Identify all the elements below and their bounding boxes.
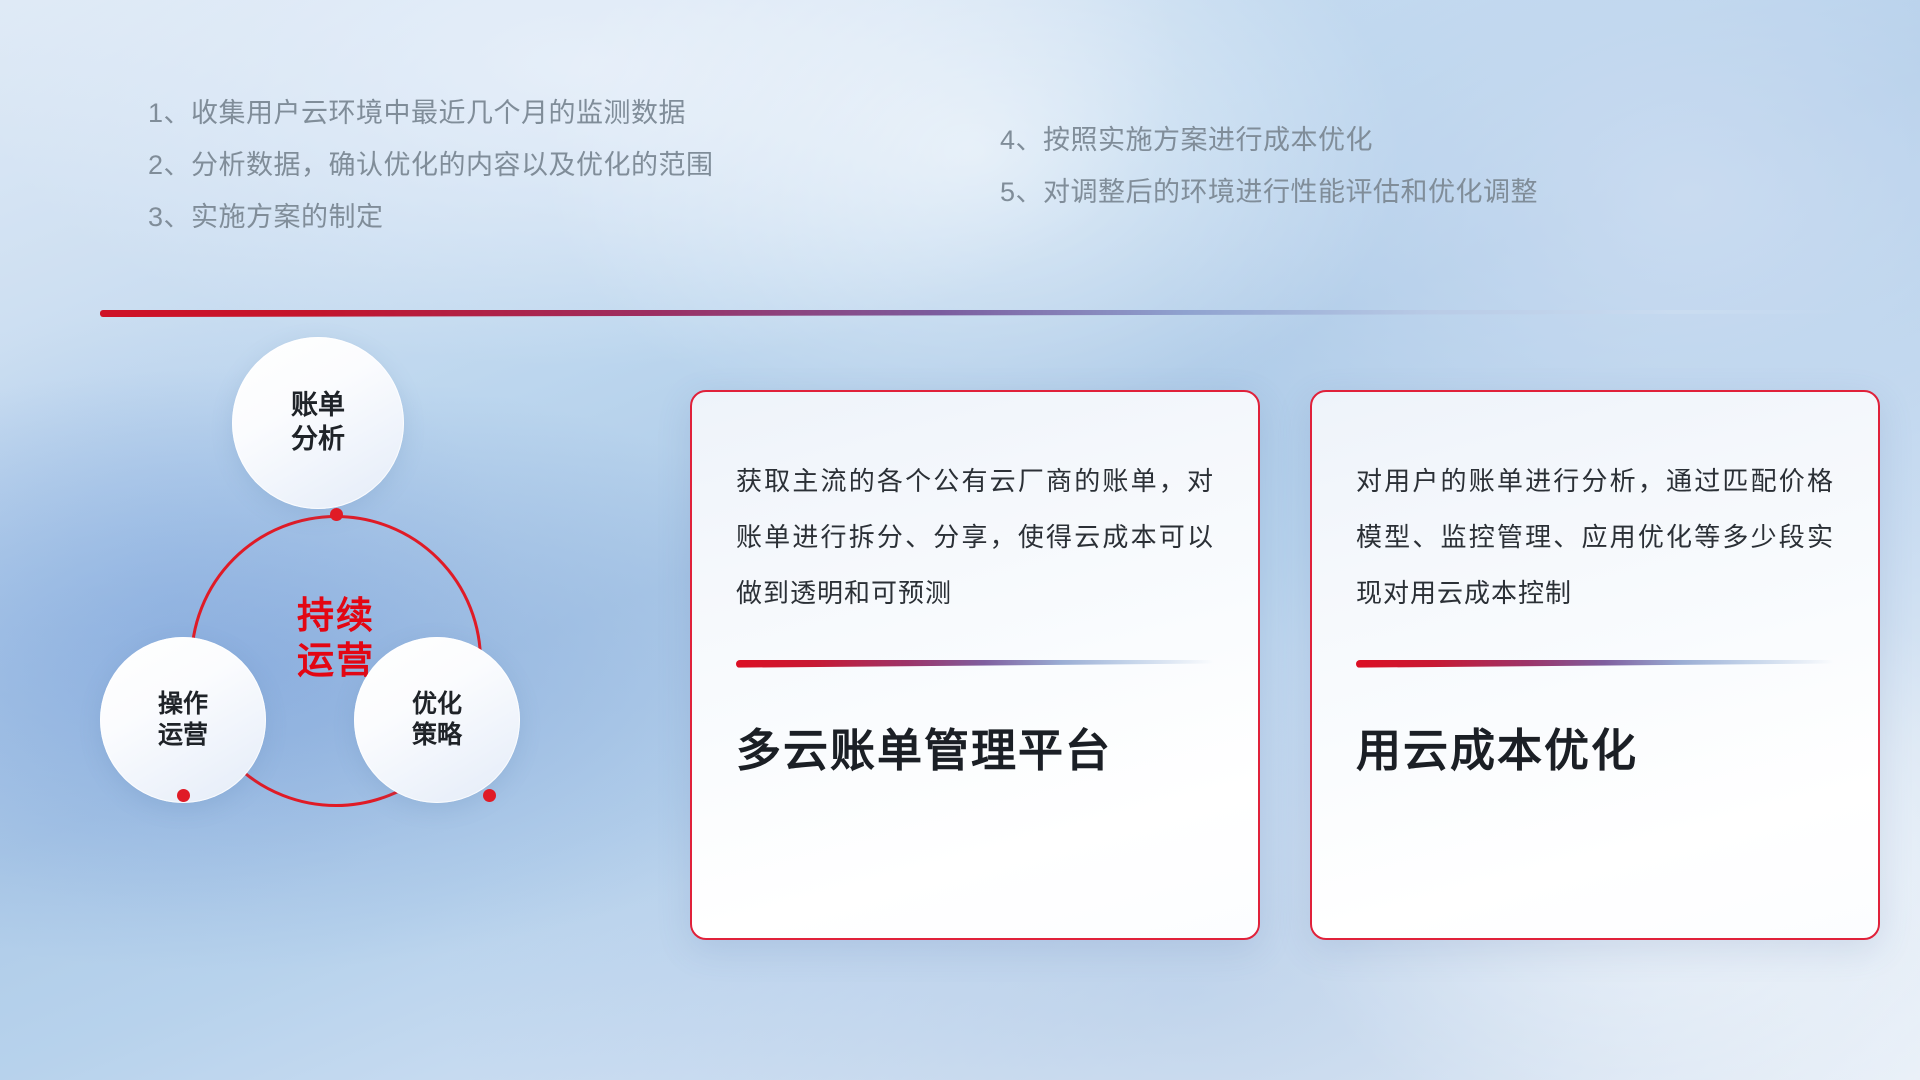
step-item-2: 2、分析数据，确认优化的内容以及优化的范围 <box>148 152 714 179</box>
steps-list-right: 4、按照实施方案进行成本优化 5、对调整后的环境进行性能评估和优化调整 <box>1000 127 1538 206</box>
card-title: 多云账单管理平台 <box>736 724 1214 778</box>
step-item-3: 3、实施方案的制定 <box>148 204 714 231</box>
section-divider <box>100 310 1850 317</box>
diagram-center-label-line1: 持续 <box>190 593 482 638</box>
card-title: 用云成本优化 <box>1356 724 1834 778</box>
card-multi-cloud-bill-platform[interactable]: 获取主流的各个公有云厂商的账单，对账单进行拆分、分享，使得云成本可以做到透明和可… <box>690 390 1260 940</box>
card-cloud-cost-optimization[interactable]: 对用户的账单进行分析，通过匹配价格模型、监控管理、应用优化等多少段实现对用云成本… <box>1310 390 1880 940</box>
diagram-node-dot-top <box>330 508 343 521</box>
bubble-label-line2: 运营 <box>158 720 208 751</box>
card-divider <box>736 660 1214 668</box>
bubble-label-line1: 操作 <box>158 689 208 720</box>
steps-list-left: 1、收集用户云环境中最近几个月的监测数据 2、分析数据，确认优化的内容以及优化的… <box>148 100 714 231</box>
bubble-label-line1: 优化 <box>412 689 462 720</box>
bubble-label-line2: 分析 <box>291 423 345 457</box>
card-body-text: 对用户的账单进行分析，通过匹配价格模型、监控管理、应用优化等多少段实现对用云成本… <box>1356 454 1834 622</box>
card-body-text: 获取主流的各个公有云厂商的账单，对账单进行拆分、分享，使得云成本可以做到透明和可… <box>736 454 1214 622</box>
diagram-bubble-operations[interactable]: 操作 运营 <box>100 637 266 803</box>
diagram-node-dot-right <box>483 789 496 802</box>
diagram-node-dot-left <box>177 789 190 802</box>
diagram-bubble-optimization-strategy[interactable]: 优化 策略 <box>354 637 520 803</box>
slide-canvas: 1、收集用户云环境中最近几个月的监测数据 2、分析数据，确认优化的内容以及优化的… <box>0 0 1920 1080</box>
diagram-bubble-bill-analysis[interactable]: 账单 分析 <box>232 337 404 509</box>
card-divider <box>1356 660 1834 668</box>
step-item-1: 1、收集用户云环境中最近几个月的监测数据 <box>148 100 714 127</box>
step-item-5: 5、对调整后的环境进行性能评估和优化调整 <box>1000 179 1538 206</box>
bubble-label-line1: 账单 <box>291 389 345 423</box>
bubble-label-line2: 策略 <box>412 720 462 751</box>
continuous-operation-diagram: 持续 运营 账单 分析 操作 运营 优化 策略 <box>100 345 640 905</box>
step-item-4: 4、按照实施方案进行成本优化 <box>1000 127 1538 154</box>
